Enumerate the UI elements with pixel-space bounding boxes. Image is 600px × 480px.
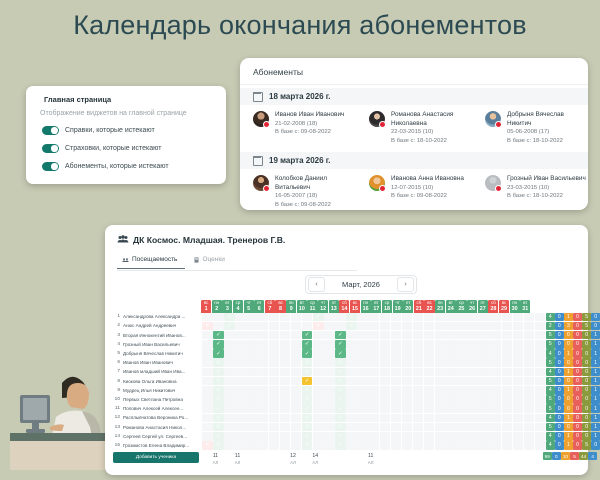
attendance-cell[interactable] bbox=[357, 340, 368, 349]
attendance-cell[interactable] bbox=[246, 340, 257, 349]
attendance-cell[interactable] bbox=[513, 423, 524, 432]
attendance-cell[interactable] bbox=[324, 423, 335, 432]
day-header-cell[interactable]: вт31 bbox=[520, 300, 530, 313]
attendance-cell[interactable] bbox=[346, 423, 357, 432]
attendance-cell[interactable]: ✓ bbox=[335, 386, 346, 395]
day-header-cell[interactable]: пт20 bbox=[403, 300, 413, 313]
attendance-cell[interactable] bbox=[280, 441, 291, 450]
attendance-cell[interactable] bbox=[513, 358, 524, 367]
attendance-cell[interactable] bbox=[380, 395, 391, 404]
attendance-cell[interactable] bbox=[435, 331, 446, 340]
attendance-cell[interactable]: ✓ bbox=[302, 358, 313, 367]
day-header-cell[interactable]: ср25 bbox=[456, 300, 466, 313]
attendance-cell[interactable] bbox=[391, 331, 402, 340]
attendance-cell[interactable] bbox=[202, 432, 213, 441]
attendance-cell[interactable] bbox=[324, 313, 335, 322]
table-row[interactable]: 11Попович Алексей Алексее...✓✓✓50000110 … bbox=[113, 404, 583, 413]
person-card[interactable]: Романова Анастасия Николаевна 22-03-2015… bbox=[356, 111, 472, 145]
attendance-cell[interactable] bbox=[380, 313, 391, 322]
attendance-cell[interactable] bbox=[269, 377, 280, 386]
attendance-cell[interactable] bbox=[502, 441, 513, 450]
day-header-cell[interactable]: пт13 bbox=[329, 300, 339, 313]
attendance-cell[interactable]: ✓ bbox=[335, 414, 346, 423]
attendance-cell[interactable] bbox=[457, 313, 468, 322]
attendance-cell[interactable] bbox=[324, 377, 335, 386]
attendance-cell[interactable] bbox=[435, 395, 446, 404]
attendance-cell[interactable] bbox=[313, 358, 324, 367]
attendance-cell[interactable] bbox=[224, 368, 235, 377]
attendance-cell[interactable] bbox=[391, 395, 402, 404]
attendance-cell[interactable] bbox=[468, 414, 479, 423]
attendance-cell[interactable] bbox=[280, 368, 291, 377]
attendance-cell[interactable] bbox=[479, 414, 490, 423]
prev-month-button[interactable]: ‹ bbox=[308, 277, 325, 292]
attendance-cell[interactable]: ✓ bbox=[302, 331, 313, 340]
attendance-cell[interactable] bbox=[457, 331, 468, 340]
attendance-cell[interactable] bbox=[257, 386, 268, 395]
day-header-cell[interactable]: сб14 bbox=[339, 300, 349, 313]
attendance-cell[interactable] bbox=[224, 441, 235, 450]
attendance-cell[interactable] bbox=[524, 404, 535, 413]
attendance-cell[interactable] bbox=[413, 340, 424, 349]
day-header-cell[interactable]: пт27 bbox=[478, 300, 488, 313]
attendance-cell[interactable] bbox=[446, 322, 457, 331]
attendance-cell[interactable] bbox=[224, 340, 235, 349]
attendance-cell[interactable] bbox=[313, 340, 324, 349]
attendance-cell[interactable]: ✓ bbox=[213, 432, 224, 441]
attendance-cell[interactable] bbox=[224, 386, 235, 395]
attendance-cell[interactable] bbox=[291, 386, 302, 395]
attendance-cell[interactable] bbox=[346, 432, 357, 441]
attendance-cell[interactable] bbox=[468, 331, 479, 340]
attendance-cell[interactable] bbox=[224, 395, 235, 404]
student-name[interactable]: Киокова Ольга Ивановна bbox=[120, 379, 202, 384]
table-row[interactable]: 10Первых Светлана Петровна✓✓✓50000110 00… bbox=[113, 395, 583, 404]
attendance-cell[interactable] bbox=[380, 340, 391, 349]
attendance-cell[interactable] bbox=[391, 349, 402, 358]
attendance-cell[interactable] bbox=[502, 423, 513, 432]
attendance-cell[interactable] bbox=[291, 395, 302, 404]
day-header-cell[interactable]: пн30 bbox=[510, 300, 520, 313]
attendance-cell[interactable] bbox=[380, 423, 391, 432]
attendance-cell[interactable] bbox=[280, 377, 291, 386]
attendance-cell[interactable] bbox=[435, 414, 446, 423]
attendance-cell[interactable] bbox=[346, 340, 357, 349]
student-name[interactable]: Иванов Иван Иванович bbox=[120, 360, 202, 365]
attendance-cell[interactable] bbox=[446, 340, 457, 349]
attendance-cell[interactable]: ✓ bbox=[302, 368, 313, 377]
attendance-cell[interactable] bbox=[457, 368, 468, 377]
attendance-cell[interactable]: ✓ bbox=[302, 377, 313, 386]
attendance-cell[interactable] bbox=[413, 331, 424, 340]
attendance-cell[interactable] bbox=[235, 414, 246, 423]
person-card[interactable]: Добрыня Вячеслав Никитич 05-06-2008 (17)… bbox=[472, 111, 588, 145]
attendance-cell[interactable] bbox=[280, 432, 291, 441]
attendance-cell[interactable] bbox=[435, 322, 446, 331]
day-header-cell[interactable]: вс15 bbox=[350, 300, 360, 313]
attendance-cell[interactable] bbox=[424, 368, 435, 377]
attendance-cell[interactable]: ✓ bbox=[302, 340, 313, 349]
attendance-cell[interactable] bbox=[224, 331, 235, 340]
attendance-cell[interactable] bbox=[246, 322, 257, 331]
attendance-cell[interactable] bbox=[513, 395, 524, 404]
attendance-cell[interactable] bbox=[502, 313, 513, 322]
attendance-cell[interactable] bbox=[246, 386, 257, 395]
attendance-cell[interactable] bbox=[490, 322, 501, 331]
attendance-cell[interactable] bbox=[324, 368, 335, 377]
attendance-cell[interactable] bbox=[490, 386, 501, 395]
attendance-cell[interactable] bbox=[424, 386, 435, 395]
attendance-cell[interactable] bbox=[368, 423, 379, 432]
table-row[interactable]: 14Сергеев Сергей ул. Сергеев...✓✓✓401001… bbox=[113, 432, 583, 441]
attendance-cell[interactable] bbox=[280, 414, 291, 423]
toggle-row-spravki[interactable]: Справки, которые истекают bbox=[42, 126, 155, 135]
attendance-cell[interactable]: ✓ bbox=[213, 395, 224, 404]
attendance-cell[interactable] bbox=[413, 404, 424, 413]
attendance-cell[interactable] bbox=[490, 432, 501, 441]
attendance-cell[interactable] bbox=[513, 414, 524, 423]
attendance-cell[interactable] bbox=[357, 377, 368, 386]
attendance-cell[interactable] bbox=[368, 395, 379, 404]
tab-attendance[interactable]: Посещаемость bbox=[117, 253, 185, 269]
attendance-cell[interactable] bbox=[435, 313, 446, 322]
attendance-cell[interactable] bbox=[490, 368, 501, 377]
attendance-cell[interactable] bbox=[490, 377, 501, 386]
attendance-cell[interactable] bbox=[502, 432, 513, 441]
attendance-cell[interactable]: ✓ bbox=[302, 395, 313, 404]
attendance-cell[interactable] bbox=[424, 313, 435, 322]
attendance-cell[interactable]: ✓ bbox=[302, 404, 313, 413]
attendance-cell[interactable] bbox=[313, 432, 324, 441]
day-header-cell[interactable]: ср18 bbox=[382, 300, 392, 313]
attendance-cell[interactable] bbox=[346, 349, 357, 358]
attendance-cell[interactable] bbox=[202, 404, 213, 413]
attendance-cell[interactable] bbox=[468, 395, 479, 404]
add-student-button[interactable]: Добавить ученика bbox=[113, 452, 199, 463]
attendance-cell[interactable] bbox=[357, 313, 368, 322]
attendance-cell[interactable] bbox=[202, 395, 213, 404]
attendance-cell[interactable] bbox=[269, 358, 280, 367]
attendance-cell[interactable] bbox=[402, 313, 413, 322]
attendance-cell[interactable] bbox=[368, 414, 379, 423]
day-header-cell[interactable]: вс29 bbox=[499, 300, 509, 313]
attendance-cell[interactable] bbox=[391, 368, 402, 377]
attendance-cell[interactable] bbox=[224, 349, 235, 358]
attendance-cell[interactable] bbox=[435, 368, 446, 377]
attendance-cell[interactable] bbox=[535, 358, 546, 367]
attendance-cell[interactable] bbox=[324, 432, 335, 441]
day-header-cell[interactable]: чт12 bbox=[318, 300, 328, 313]
attendance-cell[interactable] bbox=[424, 349, 435, 358]
attendance-cell[interactable] bbox=[535, 414, 546, 423]
attendance-cell[interactable] bbox=[402, 395, 413, 404]
attendance-cell[interactable] bbox=[291, 423, 302, 432]
day-header-cell[interactable]: вт17 bbox=[371, 300, 381, 313]
attendance-cell[interactable] bbox=[335, 313, 346, 322]
attendance-cell[interactable]: ✓ bbox=[213, 377, 224, 386]
attendance-cell[interactable] bbox=[524, 358, 535, 367]
attendance-cell[interactable] bbox=[535, 313, 546, 322]
attendance-cell[interactable] bbox=[413, 441, 424, 450]
attendance-cell[interactable] bbox=[313, 377, 324, 386]
attendance-cell[interactable] bbox=[402, 414, 413, 423]
attendance-cell[interactable] bbox=[280, 322, 291, 331]
attendance-cell[interactable] bbox=[502, 368, 513, 377]
attendance-cell[interactable] bbox=[468, 423, 479, 432]
attendance-cell[interactable] bbox=[446, 358, 457, 367]
attendance-cell[interactable] bbox=[324, 395, 335, 404]
attendance-cell[interactable] bbox=[324, 331, 335, 340]
attendance-cell[interactable] bbox=[335, 322, 346, 331]
attendance-cell[interactable] bbox=[313, 331, 324, 340]
attendance-cell[interactable] bbox=[535, 423, 546, 432]
table-row[interactable]: 1Александрова Александра ...✓✓✓401050 bbox=[113, 313, 583, 322]
table-row[interactable]: 2Анюс Андрей Андреевич✕✓✕✓203050 bbox=[113, 322, 583, 331]
attendance-cell[interactable] bbox=[435, 377, 446, 386]
attendance-cell[interactable] bbox=[213, 313, 224, 322]
attendance-cell[interactable] bbox=[246, 432, 257, 441]
student-name[interactable]: Попович Алексей Алексее... bbox=[120, 406, 202, 411]
attendance-cell[interactable] bbox=[513, 340, 524, 349]
attendance-cell[interactable] bbox=[413, 368, 424, 377]
attendance-cell[interactable] bbox=[524, 313, 535, 322]
attendance-cell[interactable] bbox=[535, 377, 546, 386]
attendance-cell[interactable]: ✓ bbox=[213, 386, 224, 395]
attendance-cell[interactable] bbox=[535, 331, 546, 340]
attendance-cell[interactable] bbox=[202, 358, 213, 367]
person-card[interactable]: Иванов Иван Иванович 21-02-2008 (18) В б… bbox=[240, 111, 356, 145]
attendance-cell[interactable] bbox=[257, 377, 268, 386]
day-header-cell[interactable]: сб7 bbox=[265, 300, 275, 313]
attendance-cell[interactable] bbox=[424, 377, 435, 386]
attendance-cell[interactable] bbox=[357, 358, 368, 367]
student-name[interactable]: Вторая Иннокентий Иванов... bbox=[120, 333, 202, 338]
attendance-cell[interactable] bbox=[490, 395, 501, 404]
attendance-cell[interactable] bbox=[490, 313, 501, 322]
attendance-cell[interactable] bbox=[513, 441, 524, 450]
attendance-cell[interactable] bbox=[524, 386, 535, 395]
attendance-cell[interactable]: ✓ bbox=[302, 414, 313, 423]
table-row[interactable]: 9Мудрец Илья Никитович✓✓✓40100110 000 bbox=[113, 386, 583, 395]
day-header-cell[interactable]: сб21 bbox=[414, 300, 424, 313]
attendance-cell[interactable] bbox=[291, 340, 302, 349]
attendance-cell[interactable] bbox=[313, 404, 324, 413]
attendance-cell[interactable] bbox=[402, 441, 413, 450]
toggle-row-strahovki[interactable]: Страховки, которые истекают bbox=[42, 144, 161, 153]
attendance-cell[interactable] bbox=[202, 386, 213, 395]
attendance-cell[interactable] bbox=[313, 441, 324, 450]
attendance-cell[interactable] bbox=[479, 432, 490, 441]
attendance-cell[interactable] bbox=[402, 368, 413, 377]
attendance-cell[interactable] bbox=[468, 404, 479, 413]
attendance-cell[interactable] bbox=[269, 331, 280, 340]
attendance-cell[interactable] bbox=[490, 349, 501, 358]
attendance-cell[interactable] bbox=[535, 368, 546, 377]
attendance-cell[interactable] bbox=[524, 322, 535, 331]
attendance-cell[interactable] bbox=[413, 395, 424, 404]
student-name[interactable]: Добрыня Вячеслав Никитич bbox=[120, 351, 202, 356]
attendance-cell[interactable] bbox=[313, 414, 324, 423]
attendance-cell[interactable] bbox=[269, 432, 280, 441]
attendance-cell[interactable] bbox=[291, 322, 302, 331]
attendance-cell[interactable]: ✓ bbox=[302, 432, 313, 441]
attendance-cell[interactable] bbox=[468, 432, 479, 441]
table-row[interactable]: 4Грозный Иван Васильевич✓✓✓50000110 000 bbox=[113, 340, 583, 349]
attendance-cell[interactable] bbox=[524, 349, 535, 358]
attendance-cell[interactable] bbox=[291, 349, 302, 358]
attendance-cell[interactable]: ✓ bbox=[335, 395, 346, 404]
attendance-cell[interactable] bbox=[368, 331, 379, 340]
attendance-cell[interactable] bbox=[202, 313, 213, 322]
attendance-cell[interactable] bbox=[257, 313, 268, 322]
attendance-cell[interactable] bbox=[502, 322, 513, 331]
attendance-cell[interactable] bbox=[346, 386, 357, 395]
attendance-cell[interactable] bbox=[391, 313, 402, 322]
day-header-cell[interactable]: пн16 bbox=[361, 300, 371, 313]
attendance-cell[interactable] bbox=[513, 331, 524, 340]
attendance-cell[interactable] bbox=[468, 441, 479, 450]
attendance-cell[interactable] bbox=[368, 377, 379, 386]
attendance-cell[interactable] bbox=[235, 349, 246, 358]
attendance-cell[interactable] bbox=[257, 322, 268, 331]
attendance-cell[interactable] bbox=[424, 432, 435, 441]
attendance-cell[interactable] bbox=[346, 414, 357, 423]
student-name[interactable]: Иванов младший Иван Ива... bbox=[120, 369, 202, 374]
attendance-cell[interactable] bbox=[513, 313, 524, 322]
attendance-cell[interactable] bbox=[324, 414, 335, 423]
attendance-cell[interactable] bbox=[380, 368, 391, 377]
attendance-cell[interactable]: ✓ bbox=[302, 423, 313, 432]
attendance-cell[interactable] bbox=[535, 395, 546, 404]
attendance-cell[interactable] bbox=[424, 441, 435, 450]
attendance-cell[interactable]: ✓ bbox=[224, 322, 235, 331]
attendance-cell[interactable] bbox=[324, 386, 335, 395]
attendance-cell[interactable] bbox=[313, 395, 324, 404]
attendance-cell[interactable]: ✓ bbox=[302, 386, 313, 395]
attendance-cell[interactable] bbox=[380, 441, 391, 450]
attendance-cell[interactable]: ✓ bbox=[346, 322, 357, 331]
attendance-cell[interactable] bbox=[435, 340, 446, 349]
attendance-cell[interactable] bbox=[490, 441, 501, 450]
attendance-cell[interactable] bbox=[479, 313, 490, 322]
attendance-cell[interactable] bbox=[424, 340, 435, 349]
attendance-cell[interactable] bbox=[468, 386, 479, 395]
attendance-cell[interactable] bbox=[479, 340, 490, 349]
table-row[interactable]: 7Иванов младший Иван Ива...✓✓✓40100110 0… bbox=[113, 368, 583, 377]
attendance-cell[interactable] bbox=[490, 358, 501, 367]
attendance-cell[interactable] bbox=[257, 404, 268, 413]
attendance-cell[interactable]: ✓ bbox=[335, 331, 346, 340]
attendance-cell[interactable] bbox=[224, 404, 235, 413]
attendance-cell[interactable] bbox=[513, 404, 524, 413]
attendance-cell[interactable] bbox=[202, 368, 213, 377]
next-month-button[interactable]: › bbox=[397, 277, 414, 292]
attendance-cell[interactable] bbox=[380, 414, 391, 423]
attendance-cell[interactable] bbox=[513, 368, 524, 377]
day-header-cell[interactable]: вс22 bbox=[424, 300, 434, 313]
attendance-cell[interactable] bbox=[479, 331, 490, 340]
attendance-cell[interactable] bbox=[324, 340, 335, 349]
day-header-cell[interactable]: чт26 bbox=[467, 300, 477, 313]
attendance-cell[interactable] bbox=[391, 386, 402, 395]
attendance-cell[interactable] bbox=[257, 368, 268, 377]
attendance-cell[interactable] bbox=[490, 340, 501, 349]
attendance-cell[interactable] bbox=[280, 358, 291, 367]
attendance-cell[interactable] bbox=[524, 414, 535, 423]
attendance-cell[interactable] bbox=[346, 331, 357, 340]
attendance-cell[interactable] bbox=[269, 441, 280, 450]
attendance-cell[interactable] bbox=[502, 414, 513, 423]
attendance-cell[interactable] bbox=[502, 386, 513, 395]
attendance-cell[interactable] bbox=[235, 313, 246, 322]
attendance-cell[interactable] bbox=[346, 395, 357, 404]
attendance-cell[interactable] bbox=[413, 432, 424, 441]
attendance-cell[interactable] bbox=[313, 423, 324, 432]
attendance-cell[interactable] bbox=[479, 441, 490, 450]
attendance-cell[interactable]: ✕ bbox=[202, 441, 213, 450]
attendance-cell[interactable] bbox=[457, 322, 468, 331]
attendance-cell[interactable] bbox=[257, 331, 268, 340]
student-name[interactable]: Грозный Иван Васильевич bbox=[120, 342, 202, 347]
attendance-cell[interactable] bbox=[235, 423, 246, 432]
attendance-cell[interactable] bbox=[391, 322, 402, 331]
attendance-cell[interactable]: ✓ bbox=[335, 340, 346, 349]
day-header-cell[interactable]: чт5 bbox=[244, 300, 254, 313]
attendance-cell[interactable] bbox=[424, 404, 435, 413]
attendance-cell[interactable] bbox=[468, 349, 479, 358]
attendance-cell[interactable]: ✓ bbox=[335, 423, 346, 432]
day-header-cell[interactable]: сб28 bbox=[488, 300, 498, 313]
attendance-cell[interactable] bbox=[202, 377, 213, 386]
attendance-cell[interactable]: ✓ bbox=[213, 349, 224, 358]
attendance-cell[interactable] bbox=[313, 386, 324, 395]
attendance-cell[interactable] bbox=[457, 414, 468, 423]
attendance-cell[interactable] bbox=[513, 377, 524, 386]
attendance-cell[interactable] bbox=[502, 349, 513, 358]
attendance-cell[interactable] bbox=[291, 441, 302, 450]
attendance-cell[interactable] bbox=[380, 404, 391, 413]
attendance-cell[interactable] bbox=[490, 404, 501, 413]
attendance-cell[interactable] bbox=[457, 386, 468, 395]
attendance-cell[interactable] bbox=[402, 358, 413, 367]
attendance-cell[interactable] bbox=[457, 395, 468, 404]
attendance-cell[interactable] bbox=[368, 322, 379, 331]
attendance-cell[interactable] bbox=[391, 377, 402, 386]
attendance-cell[interactable] bbox=[402, 377, 413, 386]
attendance-cell[interactable] bbox=[346, 377, 357, 386]
attendance-cell[interactable]: ✓ bbox=[335, 432, 346, 441]
attendance-cell[interactable] bbox=[479, 368, 490, 377]
attendance-cell[interactable] bbox=[524, 395, 535, 404]
attendance-cell[interactable]: ✓ bbox=[213, 423, 224, 432]
attendance-cell[interactable] bbox=[424, 423, 435, 432]
attendance-cell[interactable] bbox=[202, 423, 213, 432]
day-header-cell[interactable]: вт3 bbox=[222, 300, 232, 313]
attendance-cell[interactable] bbox=[368, 358, 379, 367]
attendance-cell[interactable] bbox=[235, 404, 246, 413]
attendance-cell[interactable] bbox=[291, 313, 302, 322]
attendance-cell[interactable] bbox=[368, 340, 379, 349]
attendance-cell[interactable]: ✓ bbox=[213, 414, 224, 423]
attendance-cell[interactable]: ✓ bbox=[213, 441, 224, 450]
attendance-cell[interactable] bbox=[413, 386, 424, 395]
attendance-cell[interactable] bbox=[380, 432, 391, 441]
attendance-cell[interactable] bbox=[368, 404, 379, 413]
attendance-cell[interactable] bbox=[257, 423, 268, 432]
attendance-cell[interactable] bbox=[457, 377, 468, 386]
toggle-row-abonementy[interactable]: Абонементы, которые истекают bbox=[42, 162, 169, 171]
attendance-cell[interactable] bbox=[513, 386, 524, 395]
